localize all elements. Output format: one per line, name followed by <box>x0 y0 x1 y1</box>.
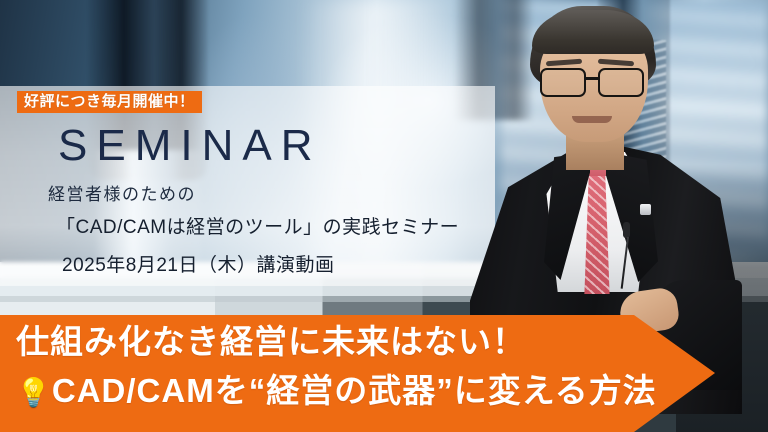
eyeglasses-icon <box>536 68 654 98</box>
recurring-event-badge: 好評につき毎月開催中！ <box>17 91 202 113</box>
eyeglass-lens-right <box>598 68 644 97</box>
presenter-mouth <box>572 116 612 123</box>
seminar-thumbnail: 好評につき毎月開催中！ SEMINAR 経営者様のための 「CAD/CAMは経営… <box>0 0 768 432</box>
presenter-hair-front <box>532 10 654 54</box>
lightbulb-icon: 💡 <box>16 377 52 408</box>
banner-headline-line-1: 仕組み化なき経営に未来はない！ <box>16 325 526 358</box>
subtitle-audience: 経営者様のための <box>48 180 196 205</box>
banner-headline-line-2: 💡CAD/CAMを“経営の武器”に変える方法 <box>16 374 657 407</box>
subtitle-date-format: 2025年8月21日（木）講演動画 <box>62 250 334 277</box>
subtitle-seminar-name: 「CAD/CAMは経営のツール」の実践セミナー <box>56 212 459 239</box>
eyeglass-lens-left <box>540 68 586 97</box>
lapel-microphone-icon <box>623 222 630 238</box>
lapel-pin-icon <box>640 204 651 215</box>
page-title: SEMINAR <box>58 124 321 168</box>
banner-headline-line-2-text: CAD/CAMを“経営の武器”に変える方法 <box>52 372 657 409</box>
